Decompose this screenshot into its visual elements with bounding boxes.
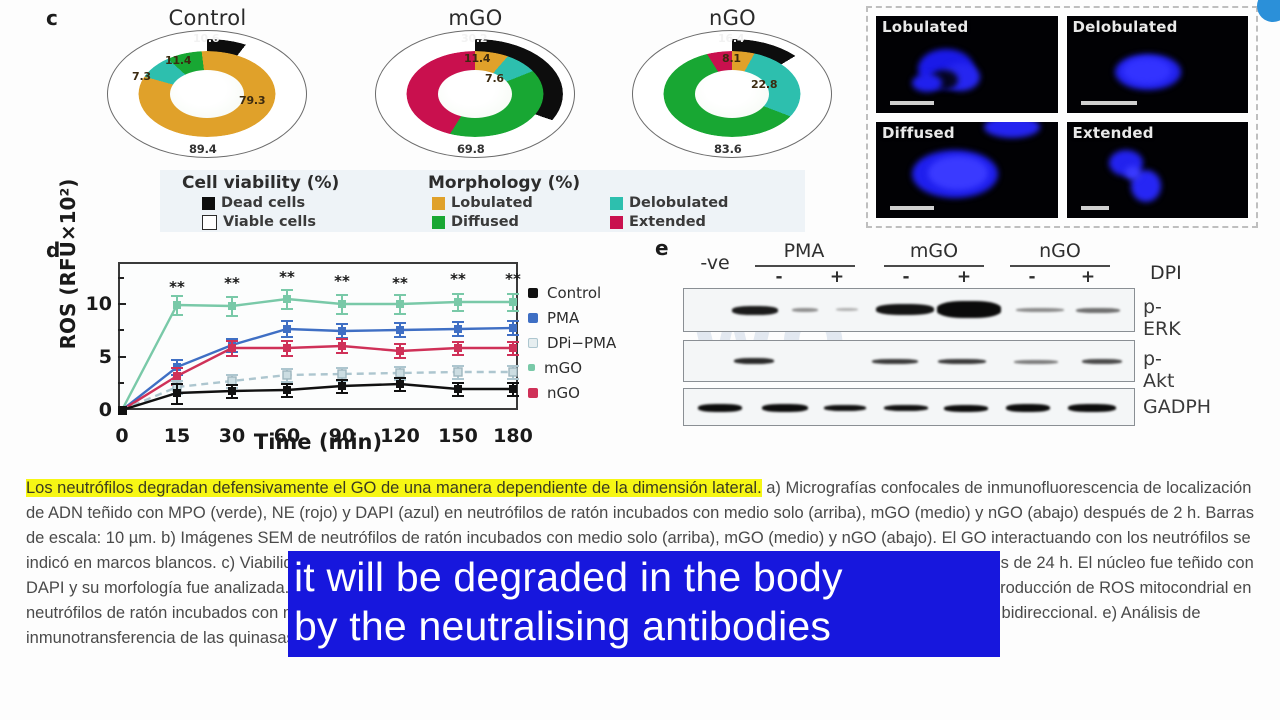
legend-panel-c: Cell viability (%) Dead cells Viable cel… [160,170,805,232]
value-dead-ngo: 16.4 [718,32,744,45]
legend-item-dpi-pma: DPi−PMA [528,330,648,355]
legend-heading-viability-text: Cell viability (%) [182,173,339,193]
donut-hole-control [170,70,244,118]
blot-group-mgo: mGO [890,240,978,262]
subtitle-overlay: it will be degraded in the body by the n… [288,551,1000,657]
legend-item-extended: Extended [610,214,706,230]
value-dead-control: 10.6 [193,32,219,45]
svg-text:**: ** [169,278,185,296]
blot-row-gadph [683,388,1135,426]
marker-control [528,288,538,298]
series-control [118,378,519,415]
legend-label-pma: PMA [547,309,579,327]
blot-group-ngo: nGO [1016,240,1104,262]
micrograph-label-delobulated: Delobulated [1073,18,1178,36]
svg-text:0: 0 [99,399,112,421]
legend-label-extended: Extended [629,214,706,230]
legend-heading-viability: Cell viability (%) [182,173,339,193]
legend-item-control: Control [528,280,648,305]
y-axis-ticks: 0 5 10 [86,278,126,421]
svg-text:5: 5 [99,346,112,368]
value-lobulated-mgo: 11.4 [464,52,490,65]
micrograph-diffused: Diffused [875,121,1059,220]
svg-text:**: ** [505,270,521,288]
legend-item-mgo: mGO [528,355,648,380]
swatch-viable-cells [202,215,217,230]
western-blot-panel: p-ERK p-Akt GADPH [683,270,1135,428]
svg-text:**: ** [224,274,240,292]
panel-letter-e: e [655,236,669,260]
legend-label-lobulated: Lobulated [451,195,533,211]
micrograph-grid: Lobulated Delobulated Diffused [866,6,1258,228]
micrograph-label-diffused: Diffused [882,124,955,142]
marker-ngo [528,388,538,398]
swatch-diffused [432,216,445,229]
value-diffused-control: 11.4 [165,54,191,67]
donut-chart-ngo: nGO 16.4 83.6 8.1 22.8 [625,8,840,158]
panel-letter-c: c [46,6,58,30]
legend-item-dead-cells: Dead cells [202,195,305,211]
donut-chart-control: Control 10.6 89.4 79.3 11.4 7.3 [100,8,315,158]
donut-title-control: Control [100,6,315,30]
legend-label-dpi-pma: DPi−PMA [547,334,616,352]
value-lobulated-ngo: 8.1 [722,52,741,65]
legend-label-delobulated: Delobulated [629,195,728,211]
legend-item-delobulated: Delobulated [610,195,728,211]
swatch-extended [610,216,623,229]
figure-stage: c Control 10.6 89.4 79.3 11.4 7.3 mGO [0,0,1280,720]
svg-text:**: ** [392,274,408,292]
legend-item-pma: PMA [528,305,648,330]
legend-label-ngo: nGO [547,384,580,402]
legend-label-viable-cells: Viable cells [223,214,316,230]
subtitle-line-1: it will be degraded in the body [294,553,994,602]
donut-title-mgo: mGO [368,6,583,30]
marker-mgo [528,364,535,371]
legend-label-diffused: Diffused [451,214,519,230]
value-viable-mgo: 69.8 [457,142,485,156]
subtitle-line-2: by the neutralising antibodies [294,602,994,651]
blot-label-pakt: p-Akt [1143,348,1174,392]
value-delobulated-ngo: 22.8 [751,78,777,91]
caption-highlight: Los neutrófilos degradan defensivamente … [26,479,762,497]
legend-item-ngo: nGO [528,380,648,405]
micrograph-label-lobulated: Lobulated [882,18,968,36]
svg-text:**: ** [450,270,466,288]
legend-label-dead-cells: Dead cells [221,195,305,211]
value-viable-control: 89.4 [189,142,217,156]
legend-label-control: Control [547,284,601,302]
swatch-lobulated [432,197,445,210]
blot-group-pma: PMA [760,240,848,262]
micrograph-extended: Extended [1066,121,1250,220]
donut-title-ngo: nGO [625,6,840,30]
legend-item-lobulated: Lobulated [432,195,533,211]
blot-row-perk [683,288,1135,332]
legend-label-mgo: mGO [544,359,582,377]
value-viable-ngo: 83.6 [714,142,742,156]
donut-chart-mgo: mGO 30.2 69.8 11.4 7.6 [368,8,583,158]
x-axis-label: Time (min) [118,430,518,454]
legend-heading-morphology-text: Morphology (%) [428,173,580,193]
blot-label-gadph: GADPH [1143,396,1211,418]
value-delobulated-control: 7.3 [132,70,151,83]
blot-label-perk: p-ERK [1143,296,1181,340]
value-lobulated-control: 79.3 [239,94,265,107]
swatch-dead-cells [202,197,215,210]
svg-text:**: ** [279,268,295,286]
value-delobulated-mgo: 7.6 [485,72,504,85]
blot-row-pakt [683,340,1135,382]
micrograph-delobulated: Delobulated [1066,15,1250,114]
marker-dpi-pma [528,338,538,348]
blot-dpi-label: DPI [1150,262,1220,284]
micrograph-lobulated: Lobulated [875,15,1059,114]
svg-text:**: ** [334,272,350,290]
corner-indicator-dot[interactable] [1257,0,1280,22]
swatch-delobulated [610,197,623,210]
marker-pma [528,313,538,323]
svg-text:10: 10 [86,293,112,315]
significance-annotations: ** ** ** ** ** ** ** [169,268,521,296]
legend-panel-d: Control PMA DPi−PMA mGO nGO [528,280,648,405]
legend-item-viable-cells: Viable cells [202,214,316,230]
legend-item-diffused: Diffused [432,214,519,230]
value-dead-mgo: 30.2 [461,32,487,45]
micrograph-label-extended: Extended [1073,124,1154,142]
legend-heading-morphology: Morphology (%) [428,173,580,193]
